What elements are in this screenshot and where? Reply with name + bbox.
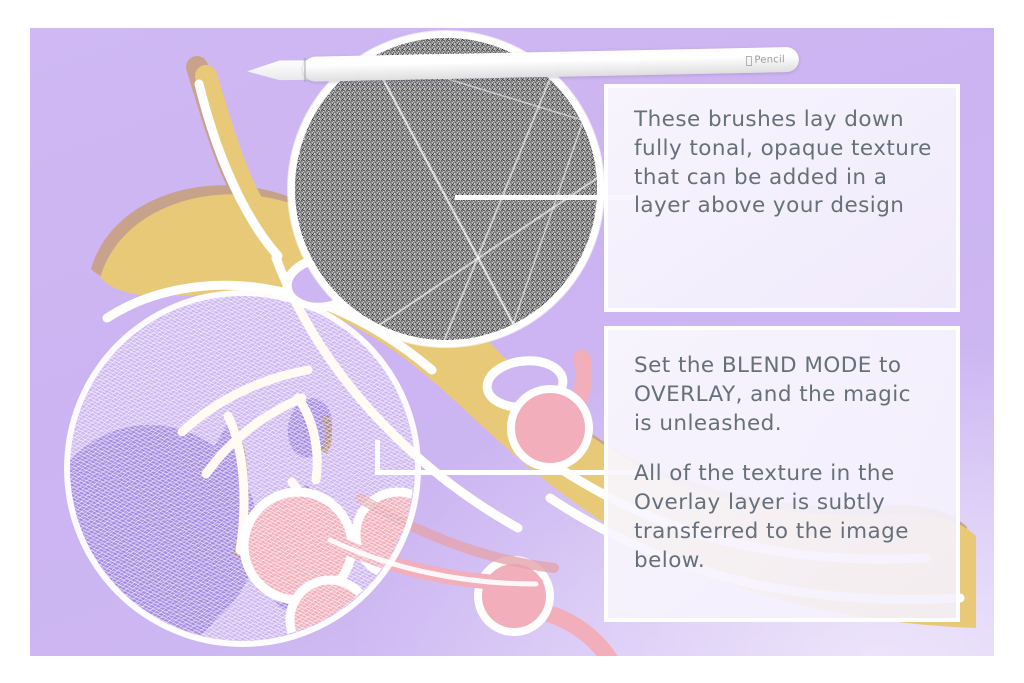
pencil-branding:  Pencil [745,51,785,68]
pencil-tip [247,60,311,81]
leader-line-bottom [375,470,637,475]
panel-2-paragraph-a: Set the BLEND MODE to OVERLAY, and the m… [634,352,934,438]
pencil-label: Pencil [754,54,785,66]
panel-2-paragraph-b: All of the texture in the Overlay layer … [634,460,934,575]
screenshot-root:  Pencil These brushes lay down fully to… [0,0,1024,683]
leader-line-bottom-vertical [375,440,380,475]
callout-panel-blend-mode: Set the BLEND MODE to OVERLAY, and the m… [604,326,960,622]
panel-1-paragraph: These brushes lay down fully tonal, opaq… [634,106,934,221]
overlay-result-circle [70,296,415,641]
pink-cherry-bottom [478,560,610,656]
apple-logo-icon:  [746,54,753,65]
callout-panel-brushes: These brushes lay down fully tonal, opaq… [604,84,960,312]
